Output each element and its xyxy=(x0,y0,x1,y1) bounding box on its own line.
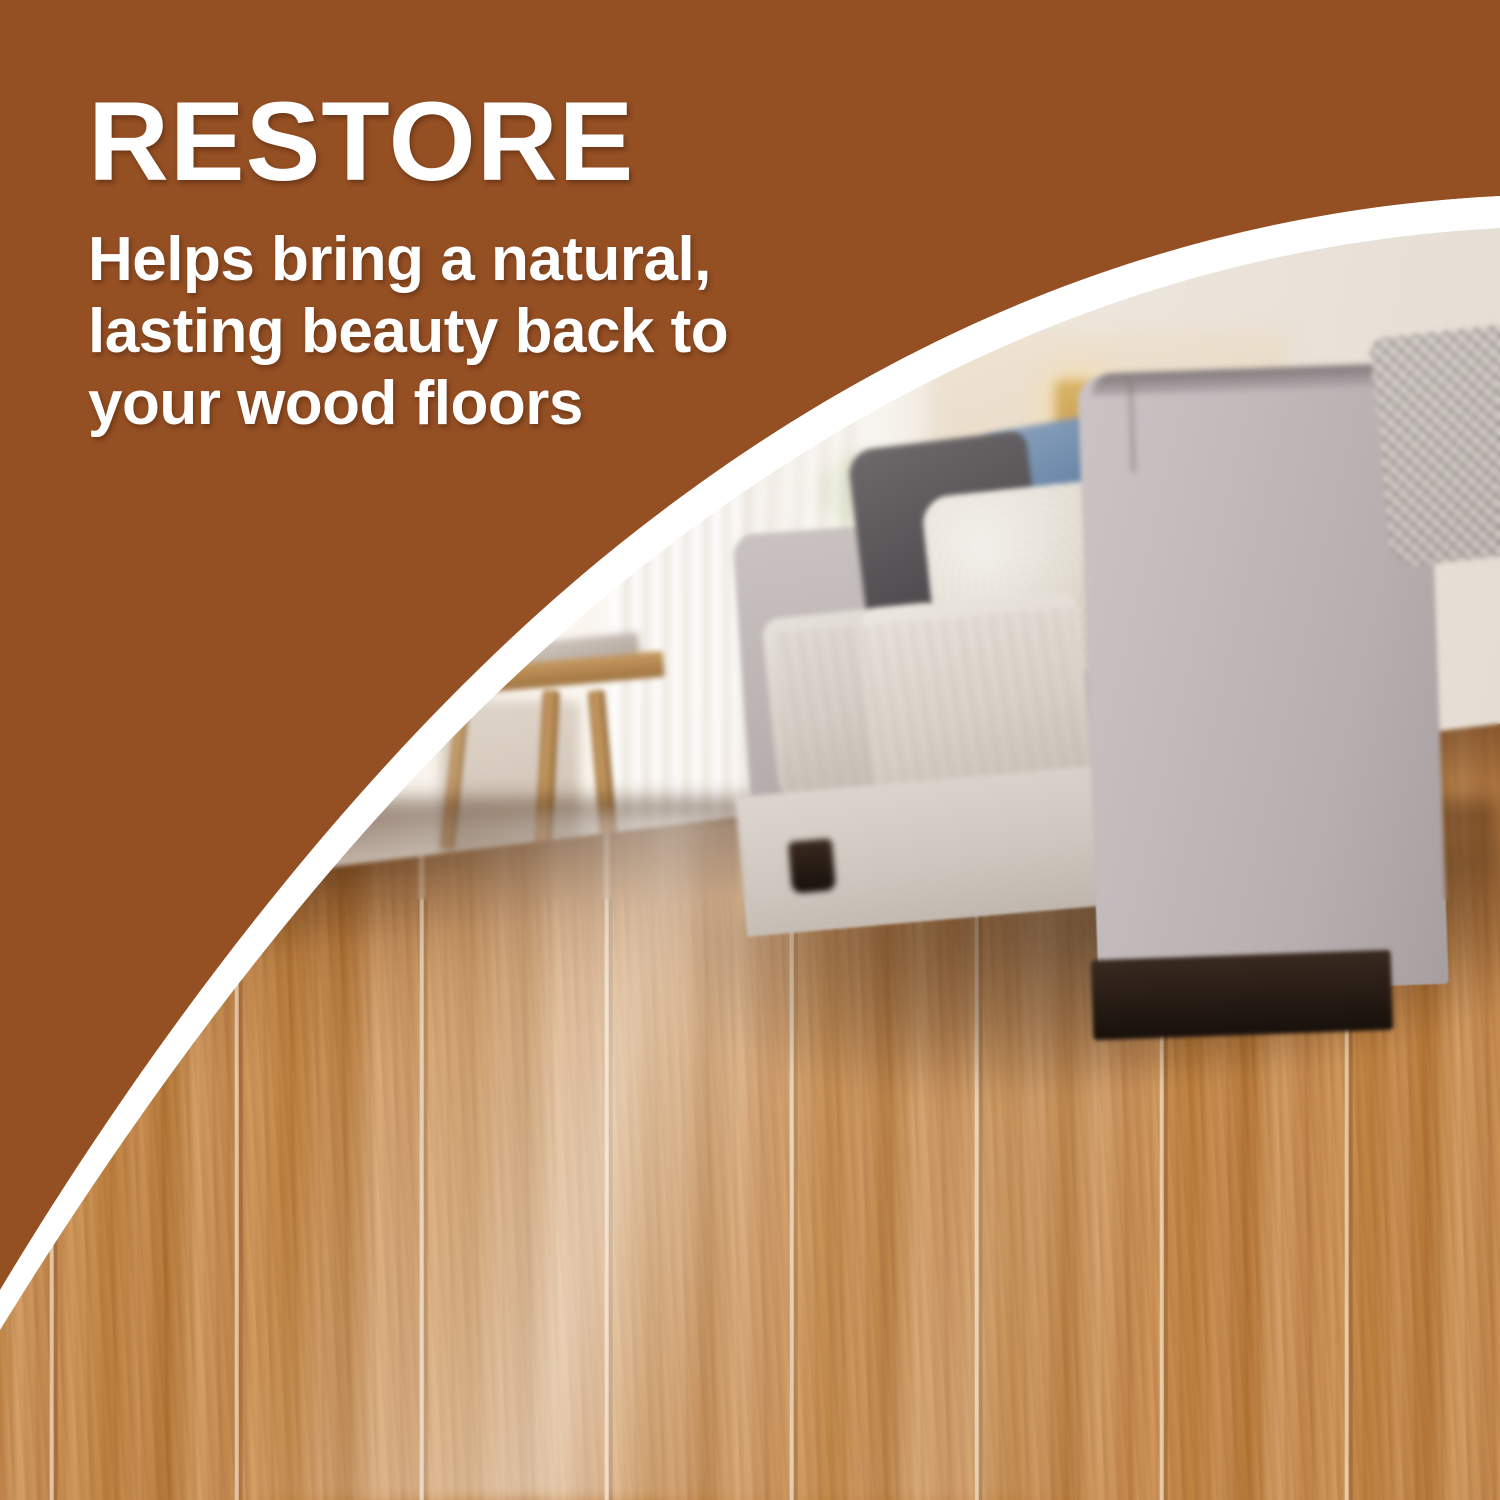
copy-block: RESTORE Helps bring a natural, lasting b… xyxy=(88,86,918,440)
subheadline-line-1: Helps bring a natural, xyxy=(88,224,918,296)
sofa-arm-shadow-base xyxy=(1091,950,1394,1040)
sofa-foot xyxy=(788,838,836,894)
product-feature-image: RESTORE Helps bring a natural, lasting b… xyxy=(0,0,1500,1500)
page-title: RESTORE xyxy=(88,86,918,198)
subheadline-line-3: your wood floors xyxy=(88,368,918,440)
knit-throw xyxy=(1368,322,1500,567)
subheadline-line-2: lasting beauty back to xyxy=(88,296,918,368)
sofa-cushion-seams xyxy=(774,607,1087,793)
subheadline: Helps bring a natural, lasting beauty ba… xyxy=(88,224,918,440)
